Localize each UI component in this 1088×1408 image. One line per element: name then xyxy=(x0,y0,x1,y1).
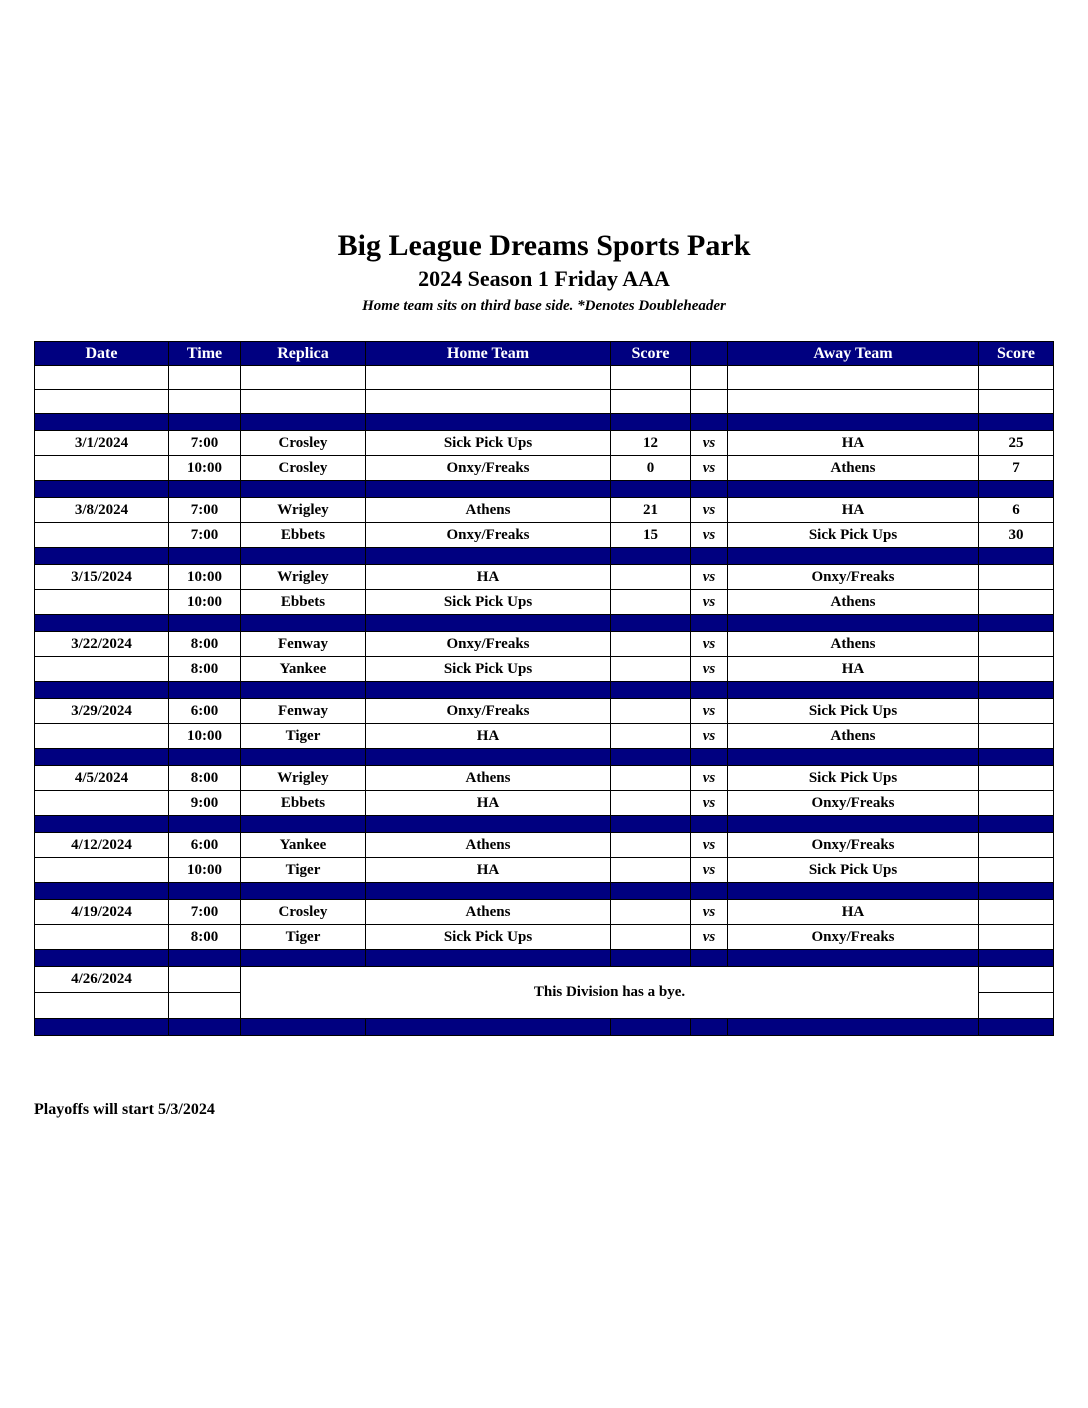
separator-cell xyxy=(691,950,728,967)
cell-away-score xyxy=(979,699,1054,724)
cell-home-score: 12 xyxy=(611,431,691,456)
game-row[interactable]: 3/15/202410:00WrigleyHAvsOnxy/Freaks xyxy=(35,565,1054,590)
game-row[interactable]: 10:00CrosleyOnxy/Freaks0vsAthens7 xyxy=(35,456,1054,481)
cell-home-team: Athens xyxy=(366,498,611,523)
separator-cell xyxy=(169,481,241,498)
cell-time: 7:00 xyxy=(169,523,241,548)
schedule-table-wrapper: DateTimeReplicaHome TeamScoreAway TeamSc… xyxy=(34,341,1053,1036)
separator-cell xyxy=(169,682,241,699)
cell-replica: Wrigley xyxy=(241,766,366,791)
separator-cell xyxy=(241,816,366,833)
cell-home-score: 21 xyxy=(611,498,691,523)
cell-date xyxy=(35,523,169,548)
cell-date: 4/12/2024 xyxy=(35,833,169,858)
cell-date: 3/22/2024 xyxy=(35,632,169,657)
cell-vs-label: vs xyxy=(691,565,728,590)
cell-away-team: Onxy/Freaks xyxy=(728,925,979,950)
cell-time: 6:00 xyxy=(169,833,241,858)
cell-away-team: HA xyxy=(728,900,979,925)
separator-cell xyxy=(169,1019,241,1036)
week-separator-row xyxy=(35,481,1054,498)
cell-date xyxy=(35,791,169,816)
col-header-vs xyxy=(691,342,728,366)
cell-vs-label: vs xyxy=(691,766,728,791)
blank-cell xyxy=(241,390,366,414)
week-separator-row xyxy=(35,816,1054,833)
cell-away-team: Onxy/Freaks xyxy=(728,833,979,858)
cell-date xyxy=(35,657,169,682)
separator-cell xyxy=(728,481,979,498)
separator-cell xyxy=(35,816,169,833)
separator-cell xyxy=(366,1019,611,1036)
cell-away-team: Athens xyxy=(728,590,979,615)
cell-home-team: Onxy/Freaks xyxy=(366,523,611,548)
separator-cell xyxy=(611,548,691,565)
game-row[interactable]: 7:00EbbetsOnxy/Freaks15vsSick Pick Ups30 xyxy=(35,523,1054,548)
document-header: Big League Dreams Sports Park 2024 Seaso… xyxy=(0,228,1088,316)
cell-away-score: 30 xyxy=(979,523,1054,548)
separator-cell xyxy=(611,883,691,900)
game-row[interactable]: 8:00YankeeSick Pick UpsvsHA xyxy=(35,657,1054,682)
cell-home-score xyxy=(611,833,691,858)
separator-cell xyxy=(366,950,611,967)
cell-date: 3/8/2024 xyxy=(35,498,169,523)
separator-cell xyxy=(611,1019,691,1036)
cell-away-team: Sick Pick Ups xyxy=(728,523,979,548)
col-header-date: Date xyxy=(35,342,169,366)
cell-date xyxy=(35,925,169,950)
separator-cell xyxy=(728,749,979,766)
separator-cell xyxy=(35,1019,169,1036)
cell-away-score xyxy=(979,791,1054,816)
cell-replica: Yankee xyxy=(241,657,366,682)
game-row[interactable]: 3/8/20247:00WrigleyAthens21vsHA6 xyxy=(35,498,1054,523)
cell-date xyxy=(35,590,169,615)
cell-home-team: Sick Pick Ups xyxy=(366,925,611,950)
cell-replica: Crosley xyxy=(241,900,366,925)
cell-home-team: Athens xyxy=(366,833,611,858)
blank-cell xyxy=(691,366,728,390)
game-row[interactable]: 4/5/20248:00WrigleyAthensvsSick Pick Ups xyxy=(35,766,1054,791)
cell-replica: Wrigley xyxy=(241,498,366,523)
page-title: Big League Dreams Sports Park xyxy=(0,228,1088,264)
separator-cell xyxy=(728,883,979,900)
blank-cell xyxy=(728,366,979,390)
cell-away-score xyxy=(979,724,1054,749)
separator-cell xyxy=(979,548,1054,565)
separator-cell xyxy=(35,950,169,967)
cell-replica: Ebbets xyxy=(241,791,366,816)
cell-time xyxy=(169,993,241,1019)
cell-vs-label: vs xyxy=(691,657,728,682)
cell-away-score xyxy=(979,993,1054,1019)
cell-away-team: HA xyxy=(728,431,979,456)
cell-date xyxy=(35,993,169,1019)
cell-replica: Ebbets xyxy=(241,523,366,548)
cell-date: 4/5/2024 xyxy=(35,766,169,791)
game-row[interactable]: 3/29/20246:00FenwayOnxy/FreaksvsSick Pic… xyxy=(35,699,1054,724)
game-row[interactable]: 10:00TigerHAvsAthens xyxy=(35,724,1054,749)
separator-cell xyxy=(611,414,691,431)
blank-cell xyxy=(728,390,979,414)
bye-row: 4/26/2024This Division has a bye. xyxy=(35,967,1054,993)
cell-time: 6:00 xyxy=(169,699,241,724)
blank-cell xyxy=(169,390,241,414)
cell-home-team: Sick Pick Ups xyxy=(366,431,611,456)
separator-cell xyxy=(979,682,1054,699)
separator-cell xyxy=(366,615,611,632)
page-subtitle: 2024 Season 1 Friday AAA xyxy=(0,265,1088,293)
cell-away-team: Onxy/Freaks xyxy=(728,791,979,816)
week-separator-row xyxy=(35,682,1054,699)
separator-cell xyxy=(611,816,691,833)
separator-cell xyxy=(611,615,691,632)
cell-away-score xyxy=(979,766,1054,791)
cell-away-team: Sick Pick Ups xyxy=(728,766,979,791)
game-row[interactable]: 10:00EbbetsSick Pick UpsvsAthens xyxy=(35,590,1054,615)
cell-home-score xyxy=(611,565,691,590)
col-header-home-team: Home Team xyxy=(366,342,611,366)
blank-cell xyxy=(241,366,366,390)
separator-cell xyxy=(691,682,728,699)
cell-time xyxy=(169,967,241,993)
cell-home-team: HA xyxy=(366,724,611,749)
cell-away-team: Sick Pick Ups xyxy=(728,699,979,724)
cell-vs-label: vs xyxy=(691,699,728,724)
bye-message: This Division has a bye. xyxy=(241,967,979,1019)
cell-time: 10:00 xyxy=(169,590,241,615)
cell-home-score xyxy=(611,900,691,925)
cell-replica: Tiger xyxy=(241,724,366,749)
cell-home-team: HA xyxy=(366,565,611,590)
cell-date xyxy=(35,456,169,481)
blank-cell xyxy=(366,366,611,390)
separator-cell xyxy=(728,1019,979,1036)
separator-cell xyxy=(35,481,169,498)
cell-away-score xyxy=(979,925,1054,950)
cell-date xyxy=(35,724,169,749)
header-note: Home team sits on third base side. *Deno… xyxy=(0,296,1088,316)
cell-away-score: 25 xyxy=(979,431,1054,456)
cell-vs-label: vs xyxy=(691,590,728,615)
separator-cell xyxy=(169,615,241,632)
cell-time: 10:00 xyxy=(169,858,241,883)
blank-cell xyxy=(366,390,611,414)
separator-cell xyxy=(241,615,366,632)
cell-date: 3/1/2024 xyxy=(35,431,169,456)
cell-time: 7:00 xyxy=(169,431,241,456)
separator-cell xyxy=(35,615,169,632)
cell-home-score xyxy=(611,925,691,950)
cell-date: 4/26/2024 xyxy=(35,967,169,993)
separator-cell xyxy=(366,816,611,833)
separator-cell xyxy=(35,682,169,699)
separator-cell xyxy=(728,950,979,967)
playoffs-note: Playoffs will start 5/3/2024 xyxy=(34,1101,215,1119)
cell-away-score xyxy=(979,900,1054,925)
separator-cell xyxy=(169,548,241,565)
separator-cell xyxy=(728,682,979,699)
separator-cell xyxy=(728,414,979,431)
game-row[interactable]: 4/19/20247:00CrosleyAthensvsHA xyxy=(35,900,1054,925)
separator-cell xyxy=(691,414,728,431)
separator-cell xyxy=(366,548,611,565)
cell-replica: Fenway xyxy=(241,632,366,657)
cell-vs-label: vs xyxy=(691,456,728,481)
separator-cell xyxy=(241,950,366,967)
cell-away-score xyxy=(979,657,1054,682)
cell-home-team: Athens xyxy=(366,766,611,791)
cell-away-score xyxy=(979,590,1054,615)
week-separator-row xyxy=(35,950,1054,967)
cell-away-score xyxy=(979,565,1054,590)
blank-cell xyxy=(169,366,241,390)
cell-replica: Fenway xyxy=(241,699,366,724)
cell-vs-label: vs xyxy=(691,632,728,657)
cell-replica: Wrigley xyxy=(241,565,366,590)
cell-home-team: Onxy/Freaks xyxy=(366,456,611,481)
cell-vs-label: vs xyxy=(691,431,728,456)
separator-cell xyxy=(728,816,979,833)
week-separator-row xyxy=(35,548,1054,565)
separator-cell xyxy=(691,749,728,766)
col-header-away-team: Away Team xyxy=(728,342,979,366)
separator-cell xyxy=(611,682,691,699)
blank-row xyxy=(35,390,1054,414)
cell-replica: Crosley xyxy=(241,456,366,481)
cell-date: 4/19/2024 xyxy=(35,900,169,925)
cell-away-score xyxy=(979,833,1054,858)
separator-cell xyxy=(979,414,1054,431)
separator-cell xyxy=(169,749,241,766)
separator-cell xyxy=(728,615,979,632)
col-header-home-score: Score xyxy=(611,342,691,366)
game-row[interactable]: 4/12/20246:00YankeeAthensvsOnxy/Freaks xyxy=(35,833,1054,858)
separator-cell xyxy=(611,481,691,498)
cell-time: 8:00 xyxy=(169,632,241,657)
cell-vs-label: vs xyxy=(691,900,728,925)
separator-cell xyxy=(169,883,241,900)
separator-cell xyxy=(241,1019,366,1036)
separator-cell xyxy=(979,749,1054,766)
cell-home-score xyxy=(611,657,691,682)
separator-cell xyxy=(979,481,1054,498)
cell-home-score xyxy=(611,724,691,749)
cell-home-team: Athens xyxy=(366,900,611,925)
separator-cell xyxy=(979,1019,1054,1036)
cell-vs-label: vs xyxy=(691,498,728,523)
col-header-time: Time xyxy=(169,342,241,366)
cell-away-team: Athens xyxy=(728,456,979,481)
cell-away-score xyxy=(979,967,1054,993)
cell-away-team: HA xyxy=(728,498,979,523)
separator-cell xyxy=(241,414,366,431)
cell-home-score xyxy=(611,791,691,816)
cell-vs-label: vs xyxy=(691,724,728,749)
cell-away-team: HA xyxy=(728,657,979,682)
cell-home-score xyxy=(611,699,691,724)
separator-cell xyxy=(366,481,611,498)
separator-cell xyxy=(691,481,728,498)
separator-cell xyxy=(35,749,169,766)
cell-away-score xyxy=(979,632,1054,657)
blank-cell xyxy=(35,390,169,414)
cell-time: 10:00 xyxy=(169,724,241,749)
separator-cell xyxy=(241,481,366,498)
separator-cell xyxy=(241,883,366,900)
separator-cell xyxy=(366,749,611,766)
cell-home-team: HA xyxy=(366,791,611,816)
game-row[interactable]: 3/22/20248:00FenwayOnxy/FreaksvsAthens xyxy=(35,632,1054,657)
cell-home-score xyxy=(611,590,691,615)
week-separator-row xyxy=(35,883,1054,900)
cell-home-score xyxy=(611,766,691,791)
cell-home-team: Sick Pick Ups xyxy=(366,657,611,682)
separator-cell xyxy=(979,883,1054,900)
cell-home-team: HA xyxy=(366,858,611,883)
cell-date: 3/29/2024 xyxy=(35,699,169,724)
week-separator-row xyxy=(35,1019,1054,1036)
cell-home-score: 15 xyxy=(611,523,691,548)
cell-replica: Ebbets xyxy=(241,590,366,615)
cell-vs-label: vs xyxy=(691,523,728,548)
cell-home-team: Onxy/Freaks xyxy=(366,632,611,657)
cell-away-team: Athens xyxy=(728,632,979,657)
separator-cell xyxy=(169,414,241,431)
separator-cell xyxy=(241,682,366,699)
separator-cell xyxy=(691,1019,728,1036)
blank-cell xyxy=(979,390,1054,414)
cell-away-team: Athens xyxy=(728,724,979,749)
col-header-replica: Replica xyxy=(241,342,366,366)
game-row[interactable]: 3/1/20247:00CrosleySick Pick Ups12vsHA25 xyxy=(35,431,1054,456)
week-separator-row xyxy=(35,414,1054,431)
blank-cell xyxy=(691,390,728,414)
separator-cell xyxy=(35,414,169,431)
blank-row xyxy=(35,366,1054,390)
separator-cell xyxy=(35,883,169,900)
cell-date: 3/15/2024 xyxy=(35,565,169,590)
cell-time: 8:00 xyxy=(169,925,241,950)
cell-away-score: 6 xyxy=(979,498,1054,523)
cell-time: 8:00 xyxy=(169,657,241,682)
cell-home-team: Sick Pick Ups xyxy=(366,590,611,615)
game-row[interactable]: 9:00EbbetsHAvsOnxy/Freaks xyxy=(35,791,1054,816)
col-header-away-score: Score xyxy=(979,342,1054,366)
separator-cell xyxy=(691,883,728,900)
blank-cell xyxy=(611,390,691,414)
cell-date xyxy=(35,858,169,883)
cell-home-score: 0 xyxy=(611,456,691,481)
week-separator-row xyxy=(35,615,1054,632)
separator-cell xyxy=(169,950,241,967)
cell-away-score xyxy=(979,858,1054,883)
separator-cell xyxy=(241,749,366,766)
cell-replica: Yankee xyxy=(241,833,366,858)
separator-cell xyxy=(366,682,611,699)
separator-cell xyxy=(691,615,728,632)
separator-cell xyxy=(366,883,611,900)
table-header-row: DateTimeReplicaHome TeamScoreAway TeamSc… xyxy=(35,342,1054,366)
cell-away-team: Onxy/Freaks xyxy=(728,565,979,590)
week-separator-row xyxy=(35,749,1054,766)
separator-cell xyxy=(691,816,728,833)
cell-replica: Tiger xyxy=(241,925,366,950)
separator-cell xyxy=(611,950,691,967)
cell-away-score: 7 xyxy=(979,456,1054,481)
separator-cell xyxy=(979,950,1054,967)
cell-time: 7:00 xyxy=(169,498,241,523)
game-row[interactable]: 8:00TigerSick Pick UpsvsOnxy/Freaks xyxy=(35,925,1054,950)
cell-home-score xyxy=(611,632,691,657)
separator-cell xyxy=(169,816,241,833)
schedule-page: Big League Dreams Sports Park 2024 Seaso… xyxy=(0,0,1088,1408)
cell-replica: Tiger xyxy=(241,858,366,883)
blank-cell xyxy=(35,366,169,390)
separator-cell xyxy=(35,548,169,565)
cell-replica: Crosley xyxy=(241,431,366,456)
separator-cell xyxy=(611,749,691,766)
cell-vs-label: vs xyxy=(691,858,728,883)
separator-cell xyxy=(979,615,1054,632)
separator-cell xyxy=(979,816,1054,833)
blank-cell xyxy=(611,366,691,390)
separator-cell xyxy=(366,414,611,431)
separator-cell xyxy=(728,548,979,565)
schedule-table: DateTimeReplicaHome TeamScoreAway TeamSc… xyxy=(34,341,1054,1036)
cell-vs-label: vs xyxy=(691,791,728,816)
cell-time: 9:00 xyxy=(169,791,241,816)
cell-time: 10:00 xyxy=(169,456,241,481)
cell-vs-label: vs xyxy=(691,925,728,950)
cell-home-score xyxy=(611,858,691,883)
cell-away-team: Sick Pick Ups xyxy=(728,858,979,883)
cell-time: 7:00 xyxy=(169,900,241,925)
blank-cell xyxy=(979,366,1054,390)
cell-vs-label: vs xyxy=(691,833,728,858)
separator-cell xyxy=(241,548,366,565)
game-row[interactable]: 10:00TigerHAvsSick Pick Ups xyxy=(35,858,1054,883)
cell-home-team: Onxy/Freaks xyxy=(366,699,611,724)
separator-cell xyxy=(691,548,728,565)
cell-time: 10:00 xyxy=(169,565,241,590)
cell-time: 8:00 xyxy=(169,766,241,791)
